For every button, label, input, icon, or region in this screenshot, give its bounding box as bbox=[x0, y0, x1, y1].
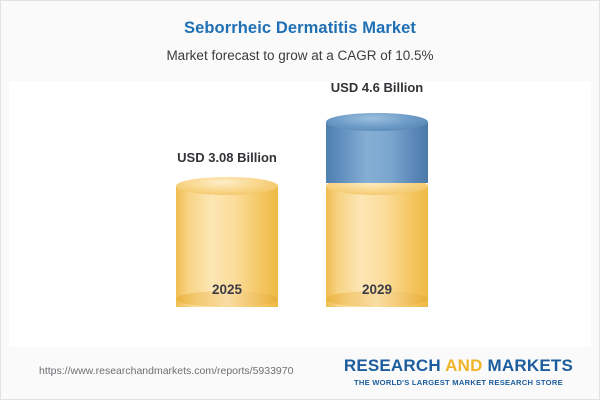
data-label-2029: USD 4.6 Billion bbox=[331, 80, 423, 95]
plot-area: USD 3.08 Billion 2025 USD 4.6 Billion bbox=[9, 81, 591, 349]
segment-body bbox=[326, 122, 428, 183]
cylinder-2029[interactable] bbox=[326, 113, 428, 307]
chart-title: Seborrheic Dermatitis Market bbox=[1, 19, 599, 38]
logo-tagline: THE WORLD'S LARGEST MARKET RESEARCH STOR… bbox=[344, 378, 573, 387]
logo-word-research: RESEARCH bbox=[344, 356, 441, 375]
chart-infographic: Seborrheic Dermatitis Market Market fore… bbox=[0, 0, 600, 400]
bar-segment-growth-2029 bbox=[326, 113, 428, 183]
logo-word-and: AND bbox=[445, 356, 482, 375]
chart-header: Seborrheic Dermatitis Market Market fore… bbox=[1, 1, 599, 87]
source-url[interactable]: https://www.researchandmarkets.com/repor… bbox=[39, 365, 293, 377]
data-label-2025: USD 3.08 Billion bbox=[177, 150, 277, 165]
segment-top-cap bbox=[326, 113, 428, 131]
logo-wordmark: RESEARCH AND MARKETS bbox=[344, 356, 573, 376]
category-label-2029: 2029 bbox=[326, 282, 428, 297]
chart-footer: https://www.researchandmarkets.com/repor… bbox=[1, 347, 599, 399]
logo-word-markets: MARKETS bbox=[488, 356, 573, 375]
chart-subtitle: Market forecast to grow at a CAGR of 10.… bbox=[1, 48, 599, 63]
category-label-2025: 2025 bbox=[176, 282, 278, 297]
research-and-markets-logo[interactable]: RESEARCH AND MARKETS THE WORLD'S LARGEST… bbox=[344, 356, 573, 387]
segment-top-cap bbox=[176, 177, 278, 195]
